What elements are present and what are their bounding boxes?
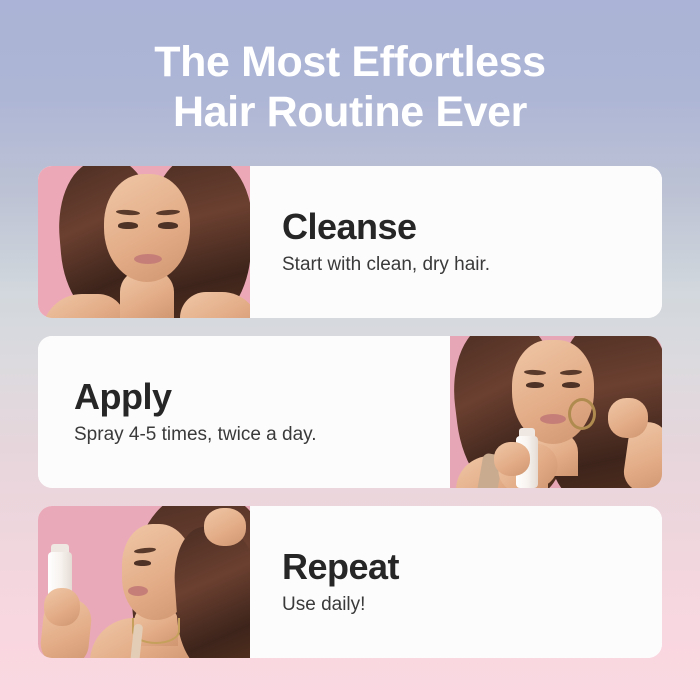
- step-title-cleanse: Cleanse: [282, 208, 638, 246]
- page-title-line-2: Hair Routine Ever: [0, 88, 700, 138]
- step-card-cleanse[interactable]: Cleanse Start with clean, dry hair.: [38, 166, 662, 318]
- step-description-apply: Spray 4-5 times, twice a day.: [74, 424, 426, 447]
- step-photo-apply: [450, 336, 662, 488]
- eye-right: [158, 222, 178, 229]
- step-title-apply: Apply: [74, 378, 426, 416]
- hand-in-hair: [204, 508, 246, 546]
- hand-holding-bottle: [44, 588, 80, 626]
- page-title: The Most Effortless Hair Routine Ever: [0, 38, 700, 138]
- step-card-apply[interactable]: Apply Spray 4-5 times, twice a day.: [38, 336, 662, 488]
- step-description-cleanse: Start with clean, dry hair.: [282, 254, 638, 277]
- page-title-line-1: The Most Effortless: [0, 38, 700, 88]
- step-description-repeat: Use daily!: [282, 594, 638, 617]
- hair-overlay: [171, 523, 250, 658]
- hand-right: [608, 398, 648, 438]
- eye: [134, 560, 151, 566]
- woman-profile-illustration: [38, 506, 250, 658]
- lips: [134, 254, 162, 264]
- step-title-repeat: Repeat: [282, 548, 638, 586]
- face: [104, 174, 190, 282]
- eye-right: [562, 382, 580, 388]
- lips: [128, 586, 148, 596]
- step-card-repeat[interactable]: Repeat Use daily!: [38, 506, 662, 658]
- hand-left: [494, 442, 530, 476]
- lips: [540, 414, 566, 424]
- eye-left: [526, 382, 544, 388]
- step-text-apply: Apply Spray 4-5 times, twice a day.: [38, 336, 450, 488]
- woman-looking-down-illustration: [38, 166, 250, 318]
- step-text-cleanse: Cleanse Start with clean, dry hair.: [250, 166, 662, 318]
- step-photo-repeat: [38, 506, 250, 658]
- hoop-earring: [568, 398, 596, 430]
- shoulder-right: [180, 292, 250, 318]
- eye-left: [118, 222, 138, 229]
- woman-spraying-illustration: [450, 336, 662, 488]
- step-text-repeat: Repeat Use daily!: [250, 506, 662, 658]
- step-photo-cleanse: [38, 166, 250, 318]
